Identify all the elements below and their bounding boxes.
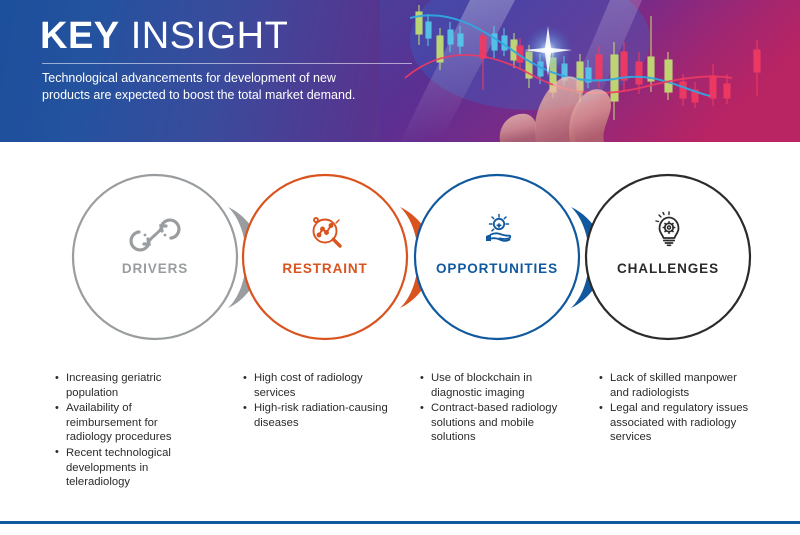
list-item: Use of blockchain in diagnostic imaging xyxy=(431,371,575,400)
list-item: Increasing geriatric population xyxy=(66,371,200,400)
header-text-block: KEY INSIGHT Technological advancements f… xyxy=(40,0,420,142)
page-title-light: INSIGHT xyxy=(131,15,289,57)
circle-opportunities xyxy=(415,175,579,339)
footer-divider xyxy=(0,521,800,524)
list-item: Lack of skilled manpower and radiologist… xyxy=(610,371,754,400)
header-artwork xyxy=(380,0,800,142)
list-item: Contract-based radiology solutions and m… xyxy=(431,401,575,445)
bullet-column-restraint: High cost of radiology services High-ris… xyxy=(238,371,388,431)
circle-label-drivers[interactable]: DRIVERS xyxy=(122,261,188,276)
list-item: High cost of radiology services xyxy=(254,371,388,400)
circle-drivers xyxy=(73,175,237,339)
bullet-lists-row: Increasing geriatric population Availabi… xyxy=(0,371,800,496)
circle-challenges xyxy=(586,175,750,339)
page-title-bold: KEY xyxy=(40,15,120,57)
list-item: Availability of reimbursement for radiol… xyxy=(66,401,200,445)
list-item: Legal and regulatory issues associated w… xyxy=(610,401,754,445)
bullet-column-drivers: Increasing geriatric population Availabi… xyxy=(50,371,200,491)
bullet-column-opportunities: Use of blockchain in diagnostic imaging … xyxy=(415,371,575,446)
header-subtitle: Technological advancements for developme… xyxy=(42,70,372,103)
bullet-column-challenges: Lack of skilled manpower and radiologist… xyxy=(594,371,754,446)
title-divider xyxy=(42,63,412,64)
list-item: Recent technological developments in tel… xyxy=(66,446,200,490)
process-flow-diagram: DRIVERS RESTRAINT OPPORTUNITIES CHALLENG… xyxy=(0,160,800,355)
circle-label-challenges[interactable]: CHALLENGES xyxy=(617,261,719,276)
circle-label-opportunities[interactable]: OPPORTUNITIES xyxy=(436,261,558,276)
list-item: High-risk radiation-causing diseases xyxy=(254,401,388,430)
page-header: KEY INSIGHT Technological advancements f… xyxy=(0,0,800,142)
circle-label-restraint[interactable]: RESTRAINT xyxy=(282,261,367,276)
circle-restraint xyxy=(243,175,407,339)
page-title: KEY INSIGHT xyxy=(40,14,288,58)
